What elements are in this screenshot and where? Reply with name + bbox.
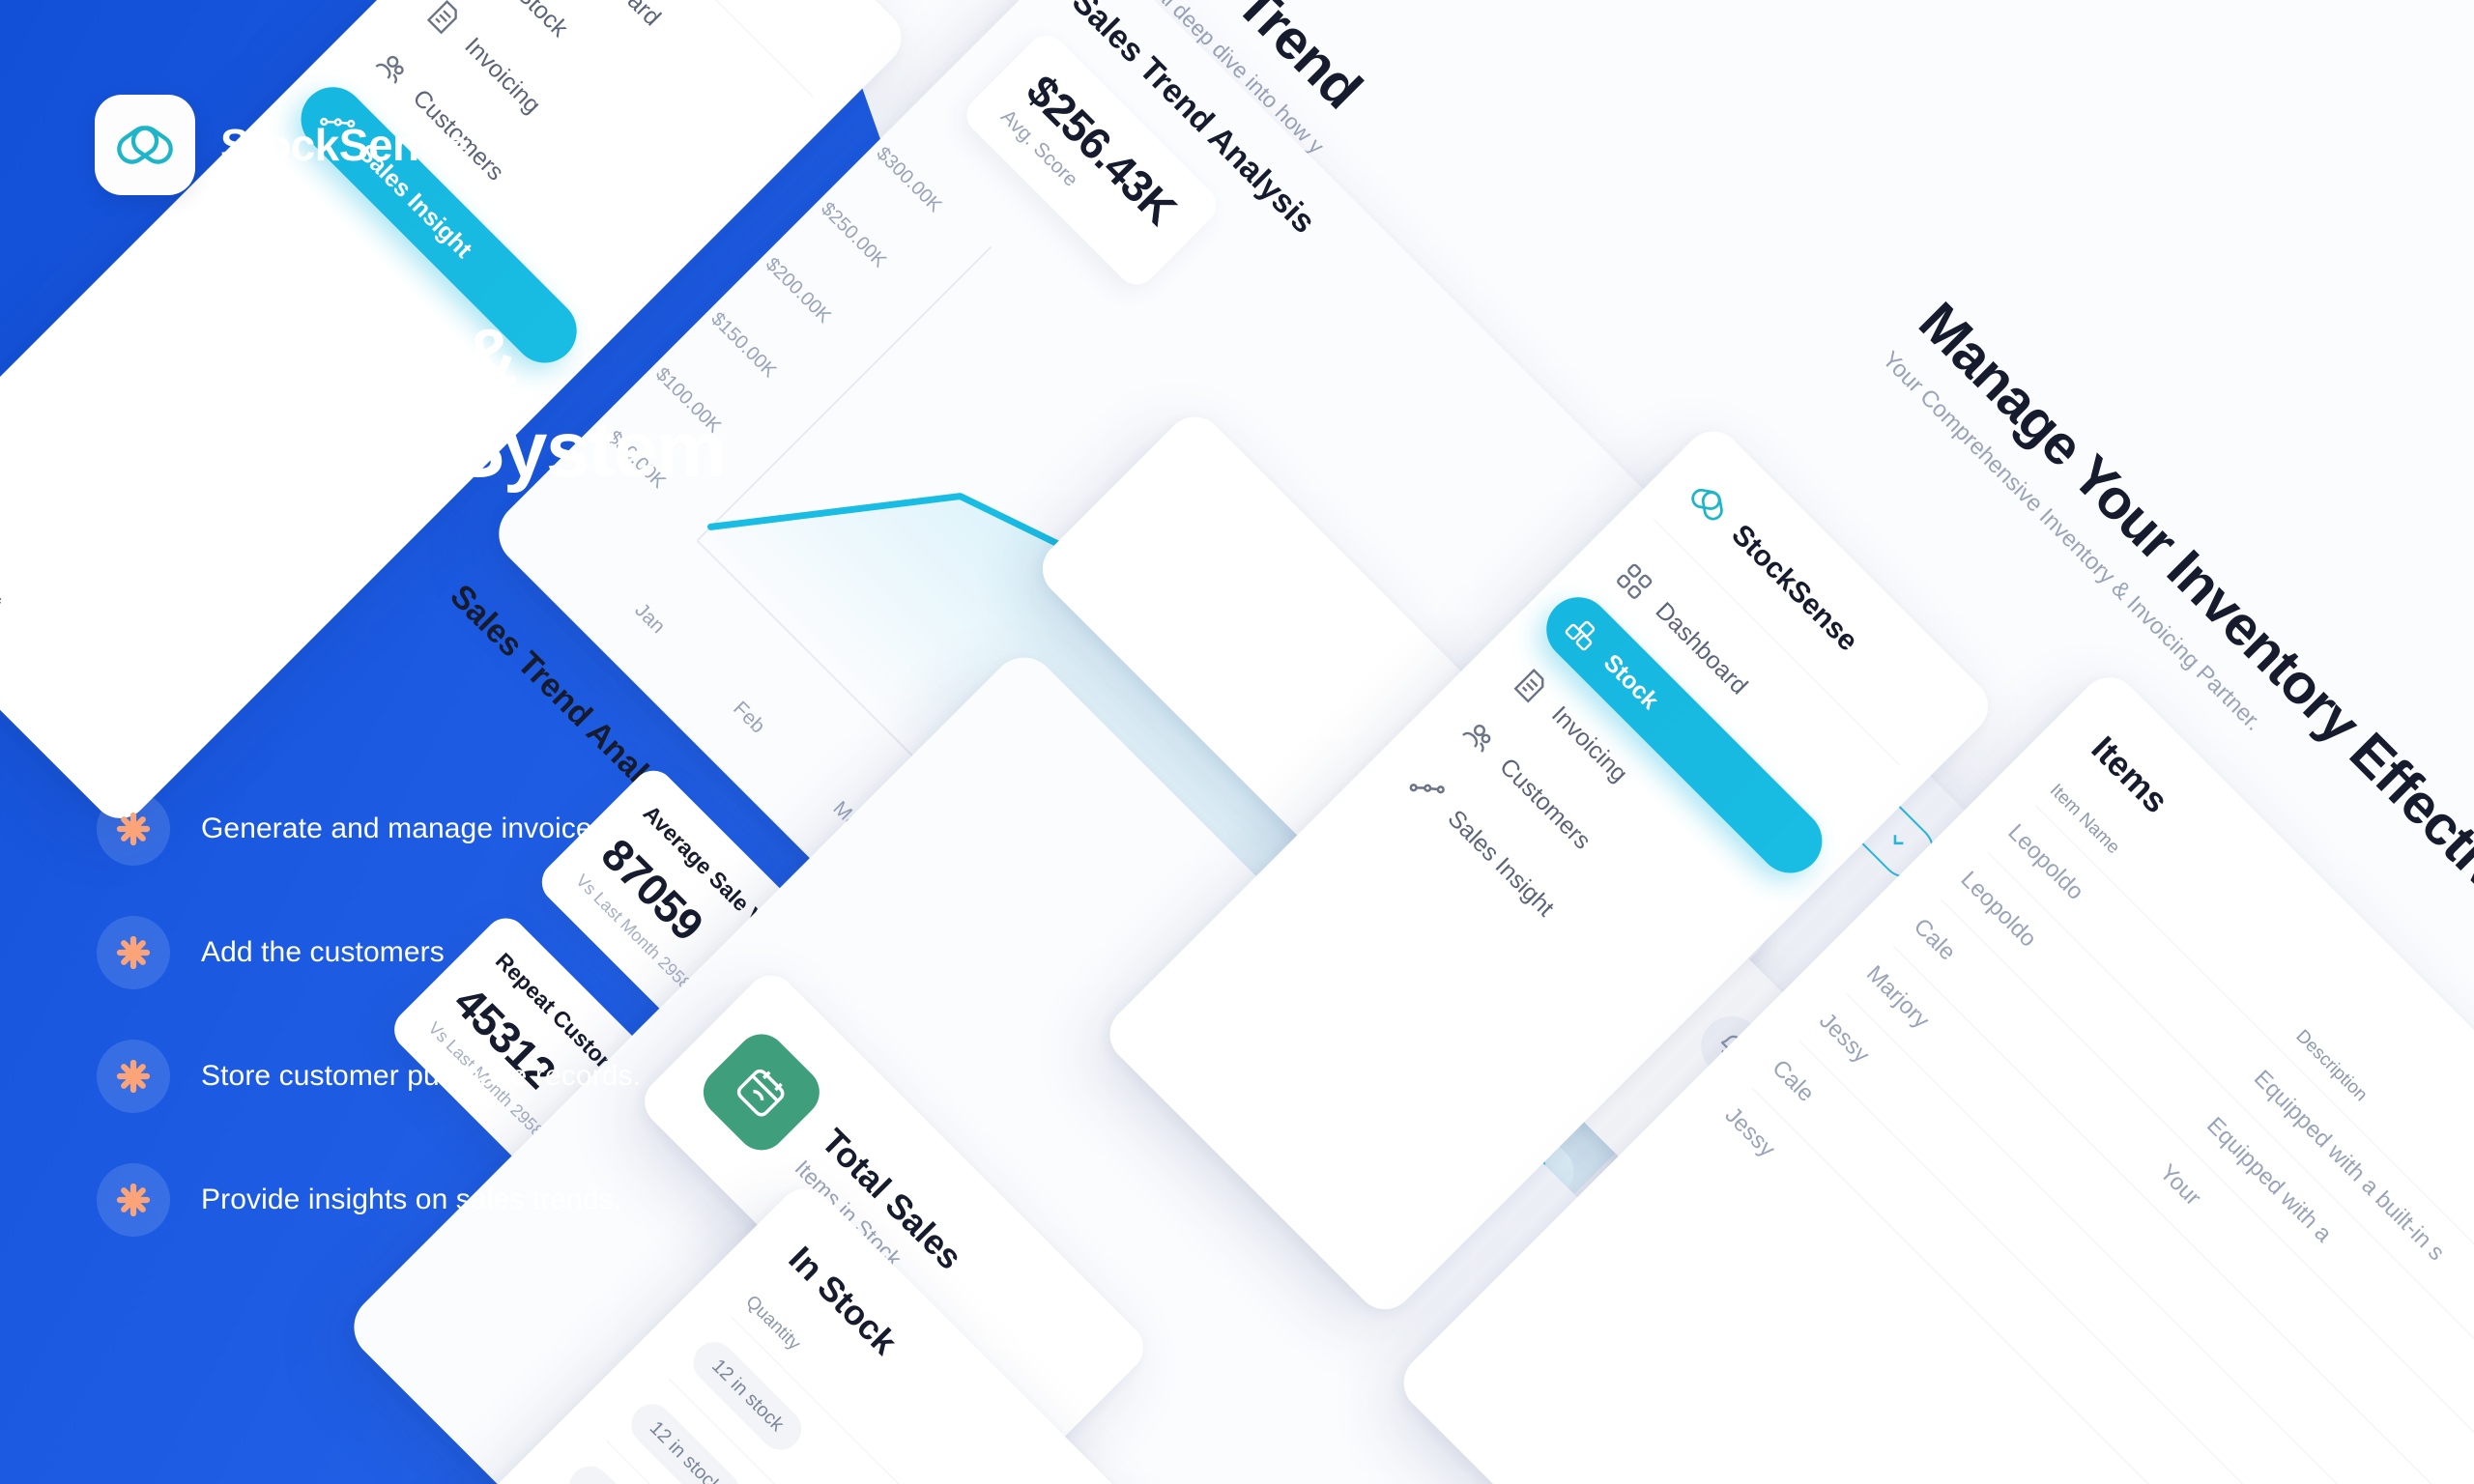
- asterisk-icon: [97, 916, 170, 989]
- insight-icon: [1403, 766, 1450, 813]
- feature-item: Provide insights on sales trends.: [97, 1163, 641, 1237]
- hero-section: StockSense Inventory & Invoicing System …: [0, 0, 966, 1484]
- hero-title: Inventory & Invoicing System: [97, 311, 792, 497]
- asterisk-glyph: [114, 1181, 153, 1219]
- asterisk-icon: [97, 1163, 170, 1237]
- asterisk-glyph: [114, 933, 153, 972]
- asterisk-glyph: [114, 810, 153, 848]
- asterisk-icon: [97, 1040, 170, 1113]
- sidebar-item-label: Stock: [1597, 648, 1664, 715]
- feature-list: Generate and manage invoices. Add the cu…: [97, 792, 641, 1237]
- brand-lockup: StockSense: [95, 95, 468, 195]
- feature-item: Add the customers: [97, 916, 641, 989]
- avg-score-card: $256.43K Avg. Score: [959, 28, 1223, 293]
- feature-label: Provide insights on sales trends.: [201, 1184, 621, 1216]
- feature-label: Add the customers: [201, 936, 445, 969]
- boxes-icon: [1559, 610, 1605, 656]
- asterisk-glyph: [114, 1057, 153, 1096]
- invoice-icon: [1508, 662, 1554, 708]
- people-icon: [1455, 714, 1502, 760]
- stocksense-logo-icon: [114, 114, 176, 176]
- asterisk-icon: [97, 792, 170, 866]
- brand-name: StockSense: [220, 119, 468, 171]
- feature-item: Store customer purchase records.: [97, 1040, 641, 1113]
- feature-item: Generate and manage invoices.: [97, 792, 641, 866]
- grid-icon: [1611, 558, 1657, 605]
- feature-label: Store customer purchase records.: [201, 1060, 641, 1093]
- stocksense-logo-icon: [1679, 472, 1739, 532]
- brand-mark: [95, 95, 195, 195]
- feature-label: Generate and manage invoices.: [201, 813, 615, 845]
